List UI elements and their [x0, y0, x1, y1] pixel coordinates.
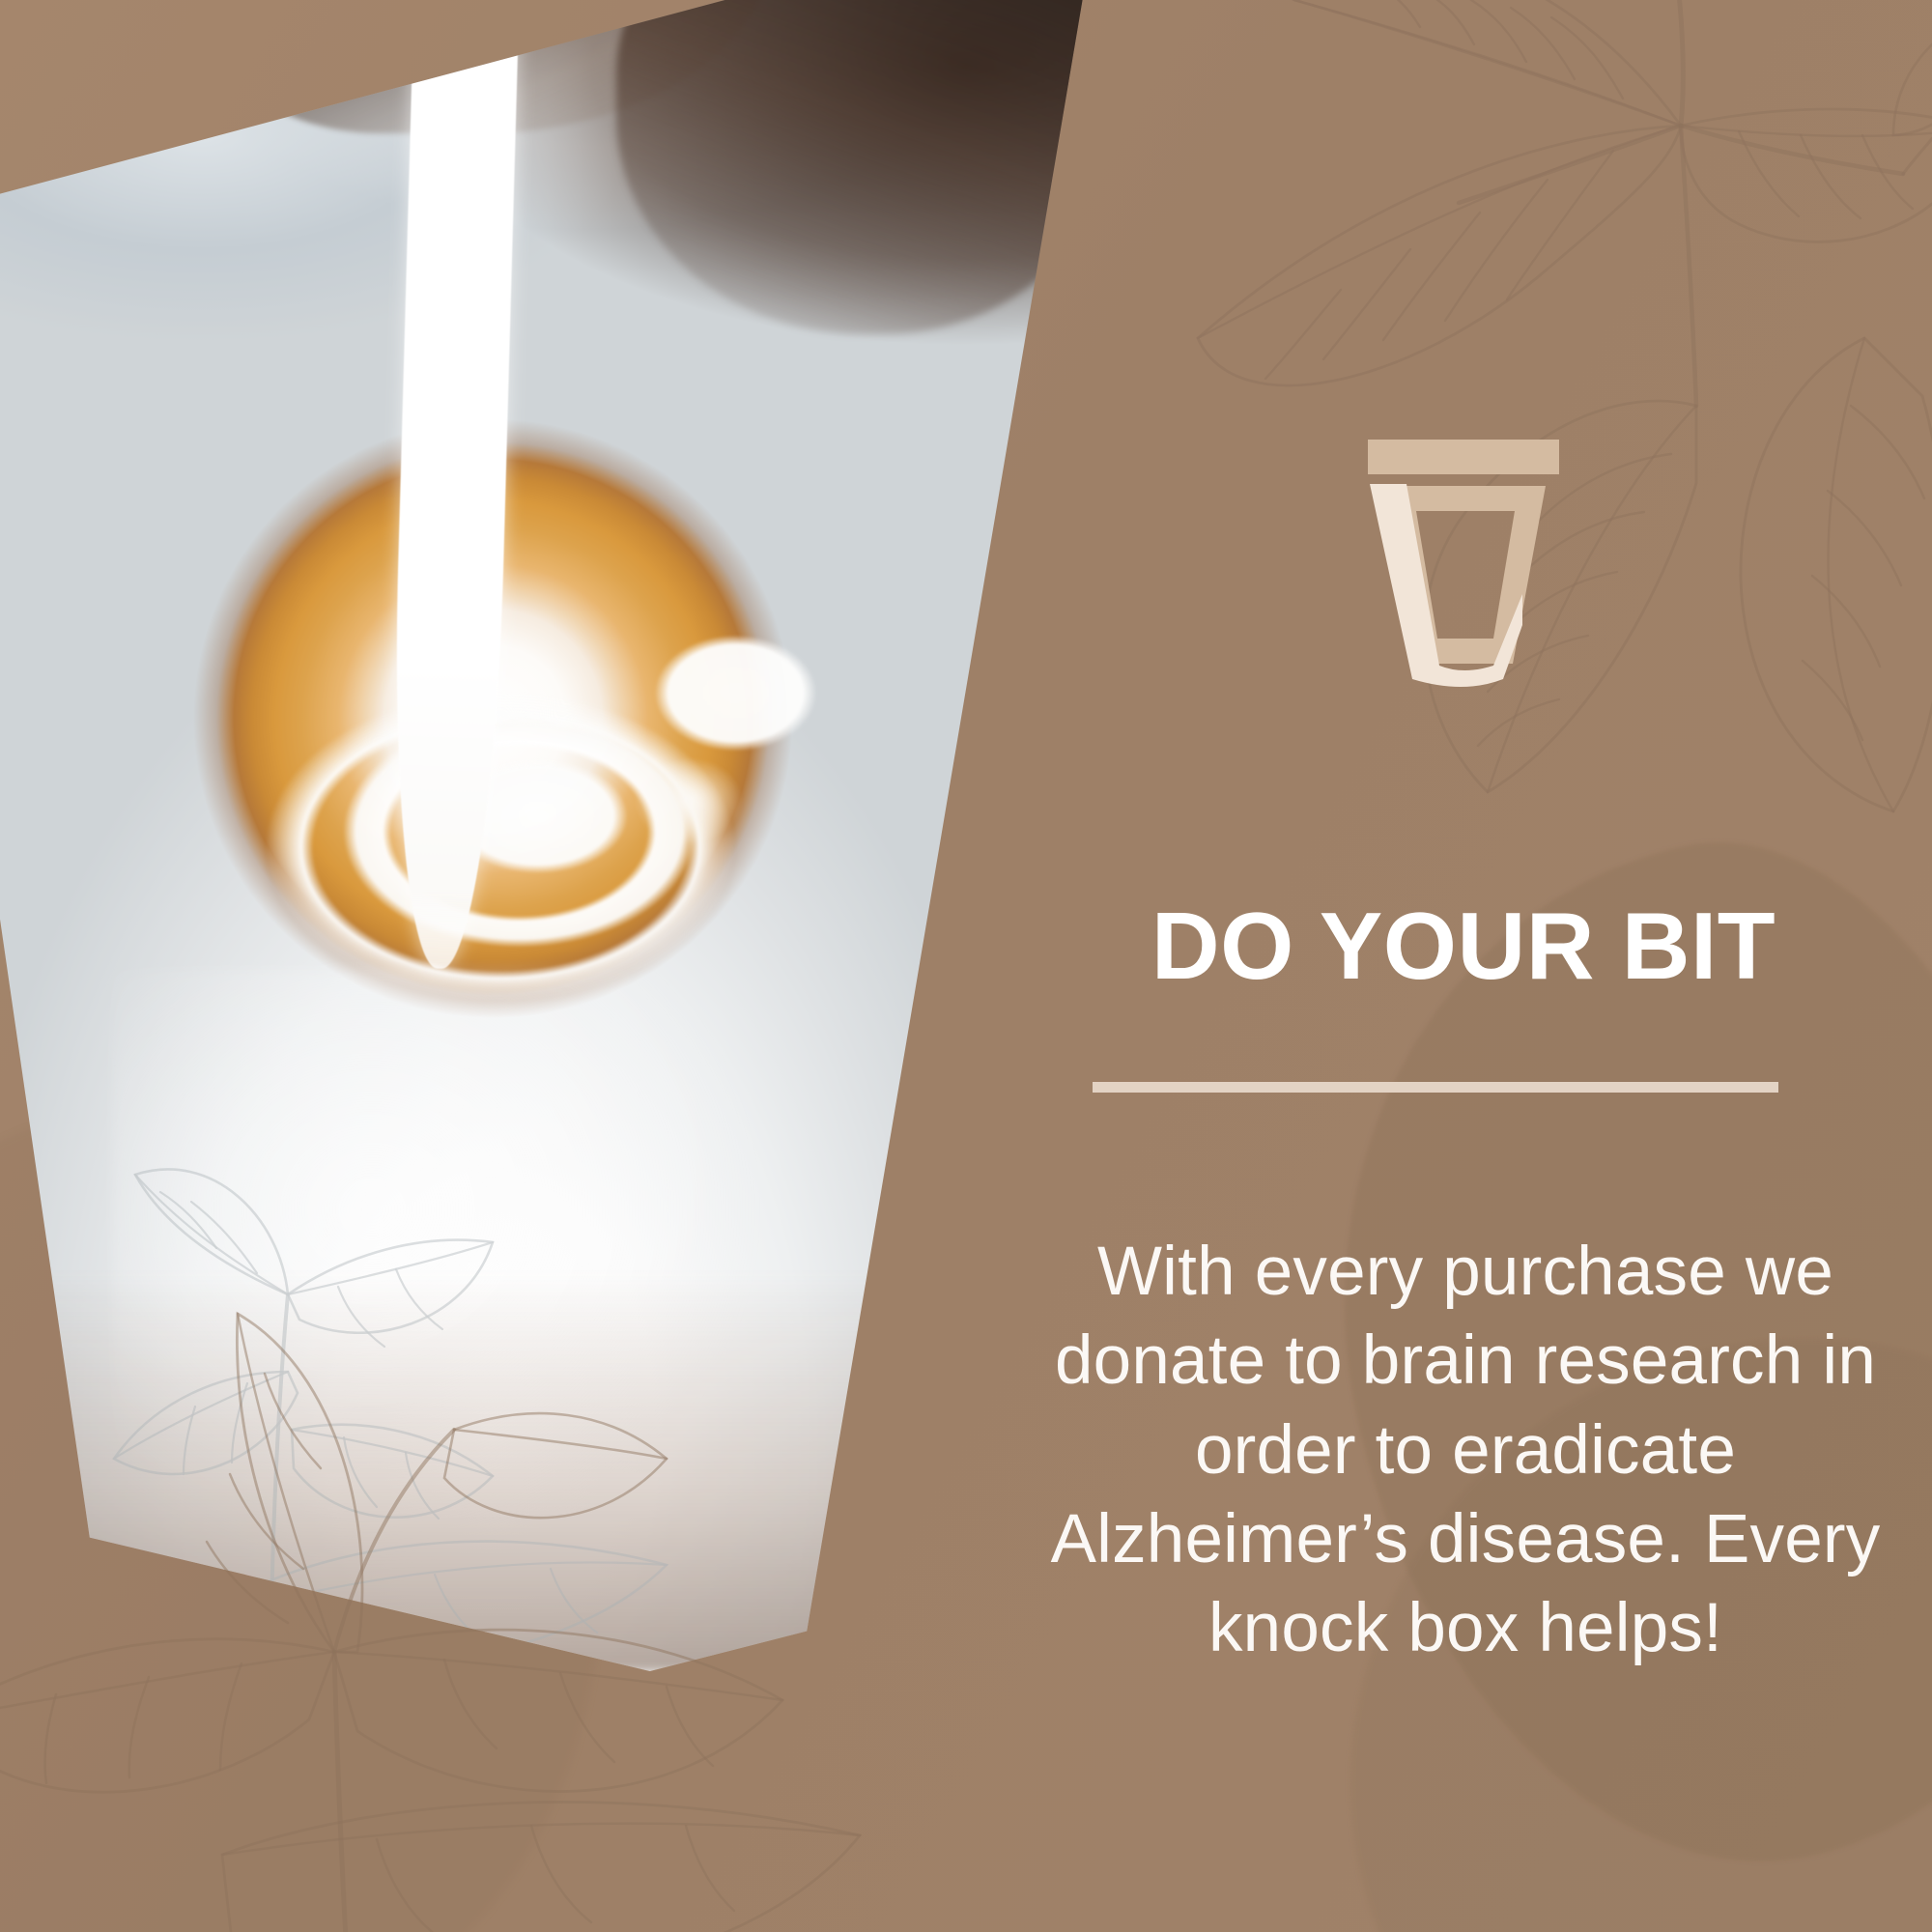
- page-title: DO YOUR BIT: [1038, 896, 1889, 996]
- body-paragraph: With every purchase we donate to brain r…: [1031, 1228, 1900, 1673]
- brand-logo[interactable]: [1038, 440, 1889, 700]
- content-column: DO YOUR BIT With every purchase we donat…: [1038, 0, 1889, 1932]
- coffee-cup-icon: [1352, 440, 1575, 700]
- poster-canvas: DO YOUR BIT With every purchase we donat…: [0, 0, 1932, 1932]
- title-divider: [1093, 1082, 1778, 1093]
